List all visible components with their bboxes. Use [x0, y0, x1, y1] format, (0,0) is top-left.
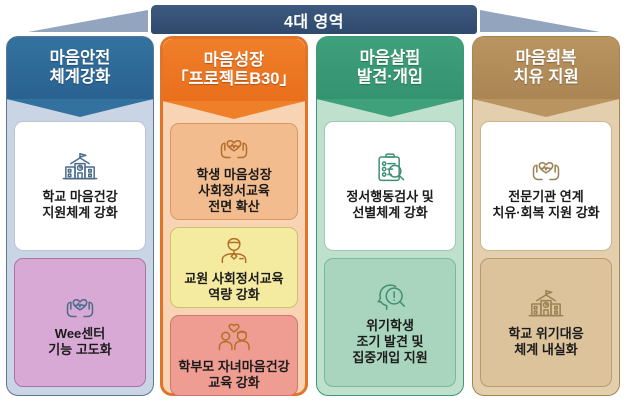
- card-label: 학부모 자녀마음건강 교육 강화: [178, 359, 289, 391]
- school-building-icon: [526, 287, 566, 322]
- hands-heart-icon: [526, 150, 566, 185]
- hands-heart-icon: [60, 287, 100, 322]
- header-notch: [473, 99, 619, 117]
- column-header-mind-growth: 마음성장「프로젝트B30」: [163, 39, 305, 101]
- card-list: 정서행동검사 및 선별체계 강화 위기학생 조기 발견 및 집중개입 지원: [324, 121, 456, 387]
- card-label: 전문기관 연계 치유·회복 지원 강화: [492, 189, 599, 221]
- column-title-line: 마음회복: [516, 49, 577, 68]
- column-mind-safety: 마음안전체계강화 학교 마음건강 지원체계 강화 Wee센터 기능 고도화: [6, 36, 154, 396]
- header-notch: [7, 99, 153, 117]
- banner-left-wing: [28, 10, 148, 32]
- column-header-mind-recovery: 마음회복치유 지원: [473, 37, 619, 99]
- banner-box: 4대 영역: [151, 5, 477, 34]
- header-notch: [317, 99, 463, 117]
- column-title-line: 치유 지원: [513, 68, 578, 87]
- card-label: 학교 마음건강 지원체계 강화: [42, 189, 117, 221]
- card-list: 학생 마음성장 사회정서교육 전면 확산 교원 사회정서교육 역량 강화 학부모…: [170, 123, 298, 385]
- column-title-line: 발견·개입: [357, 68, 423, 87]
- column-header-mind-care: 마음살핌발견·개입: [317, 37, 463, 99]
- column-title-line: 체계강화: [50, 68, 111, 87]
- card-mind-growth-1[interactable]: 학생 마음성장 사회정서교육 전면 확산: [170, 123, 298, 220]
- infographic-root: 4대 영역 마음안전체계강화 학교 마음건강 지원체계 강화 Wee센터 기능 …: [0, 0, 628, 403]
- card-list: 전문기관 연계 치유·회복 지원 강화 학교 위기대응 체계 내실화: [480, 121, 612, 387]
- card-label: 위기학생 조기 발견 및 집중개입 지원: [352, 318, 427, 366]
- column-header-mind-safety: 마음안전체계강화: [7, 37, 153, 99]
- column-mind-growth: 마음성장「프로젝트B30」 학생 마음성장 사회정서교육 전면 확산 교원 사회…: [160, 36, 308, 396]
- column-mind-recovery: 마음회복치유 지원 전문기관 연계 치유·회복 지원 강화 학교 위기대응 체계…: [472, 36, 620, 396]
- header-notch: [163, 101, 305, 119]
- card-list: 학교 마음건강 지원체계 강화 Wee센터 기능 고도화: [14, 121, 146, 387]
- card-mind-recovery-1[interactable]: 전문기관 연계 치유·회복 지원 강화: [480, 121, 612, 251]
- hands-heart-icon: [214, 128, 254, 163]
- card-mind-care-2[interactable]: 위기학생 조기 발견 및 집중개입 지원: [324, 258, 456, 388]
- card-mind-care-1[interactable]: 정서행동검사 및 선별체계 강화: [324, 121, 456, 251]
- clipboard-magnifier-icon: [370, 150, 410, 185]
- card-mind-growth-3[interactable]: 학부모 자녀마음건강 교육 강화: [170, 315, 298, 396]
- card-mind-growth-2[interactable]: 교원 사회정서교육 역량 강화: [170, 227, 298, 308]
- top-banner: 4대 영역: [0, 4, 628, 34]
- card-label: 정서행동검사 및 선별체계 강화: [346, 189, 433, 221]
- card-label: 교원 사회정서교육 역량 강화: [184, 271, 283, 303]
- head-alert-magnifier-icon: [370, 279, 410, 314]
- card-mind-recovery-2[interactable]: 학교 위기대응 체계 내실화: [480, 258, 612, 388]
- column-title-line: 마음성장: [204, 51, 265, 70]
- column-title-line: 마음안전: [50, 49, 111, 68]
- banner-title: 4대 영역: [284, 8, 344, 32]
- column-title-line: 「프로젝트B30」: [172, 70, 296, 89]
- parent-child-heart-icon: [214, 320, 254, 355]
- banner-right-wing: [480, 10, 600, 32]
- column-mind-care: 마음살핌발견·개입 정서행동검사 및 선별체계 강화 위기학생 조기 발견 및 …: [316, 36, 464, 396]
- card-mind-safety-2[interactable]: Wee센터 기능 고도화: [14, 258, 146, 388]
- school-building-icon: [60, 150, 100, 185]
- card-label: Wee센터 기능 고도화: [48, 326, 111, 358]
- teacher-icon: [214, 232, 254, 267]
- card-label: 학생 마음성장 사회정서교육 전면 확산: [196, 167, 271, 215]
- card-mind-safety-1[interactable]: 학교 마음건강 지원체계 강화: [14, 121, 146, 251]
- column-title-line: 마음살핌: [360, 49, 421, 68]
- card-label: 학교 위기대응 체계 내실화: [508, 326, 583, 358]
